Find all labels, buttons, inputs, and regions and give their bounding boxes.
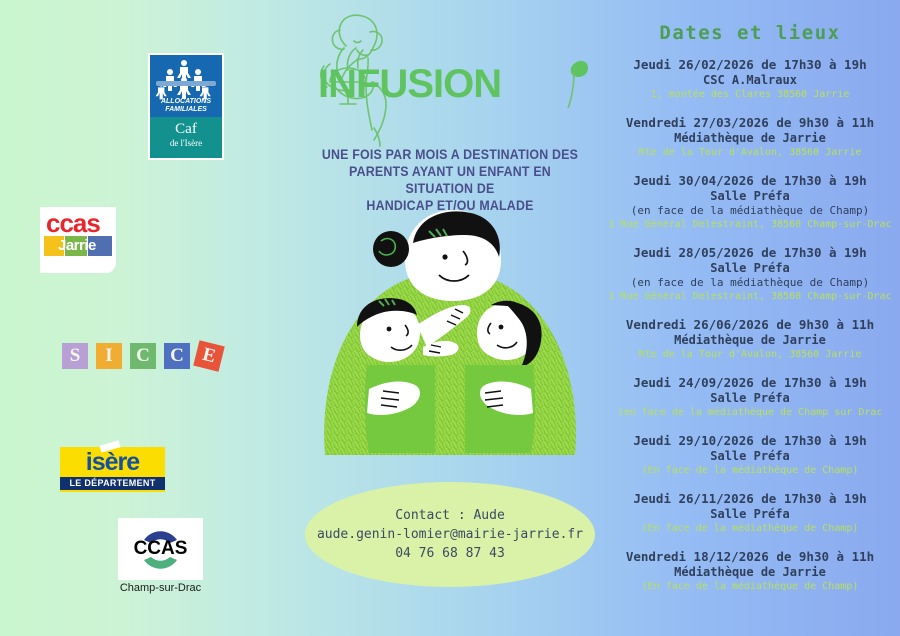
schedule-event: Jeudi 29/10/2026 de 17h30 à 19h Salle Pr… — [600, 433, 900, 478]
tagline: UNE FOIS PAR MOIS A DESTINATION DES PARE… — [316, 146, 585, 214]
family-hug-illustration — [305, 205, 595, 480]
sicce-letter-3: C — [130, 343, 156, 369]
schedule-event: Vendredi 26/06/2026 de 9h30 à 11h Médiat… — [600, 317, 900, 362]
logo-caf: ALLOCATIONSFAMILIALES Caf de l'Isère — [148, 53, 224, 160]
event-date: Vendredi 27/03/2026 de 9h30 à 11h — [600, 115, 900, 131]
event-date: Jeudi 29/10/2026 de 17h30 à 19h — [600, 433, 900, 449]
event-date: Jeudi 26/02/2026 de 17h30 à 19h — [600, 57, 900, 73]
sicce-letter-4: C — [164, 343, 190, 369]
event-address: (en face de la médiathèque de Champ sur … — [600, 406, 900, 420]
event-date: Jeudi 26/11/2026 de 17h30 à 19h — [600, 491, 900, 507]
ccas-champ-box: CCAS — [118, 518, 203, 580]
event-place: CSC A.Malraux — [600, 73, 900, 88]
ccas-jarrie-color-blocks: Jarrie — [44, 236, 112, 258]
event-date: Jeudi 28/05/2026 de 17h30 à 19h — [600, 245, 900, 261]
schedule-column: Dates et lieux Jeudi 26/02/2026 de 17h30… — [600, 0, 900, 636]
isere-word: isère — [60, 447, 165, 477]
contact-phone[interactable]: 04 76 68 87 43 — [395, 544, 505, 563]
event-address: 1 Rue Général Delestraint, 38560 Champ-s… — [600, 290, 900, 304]
contact-email[interactable]: aude.genin-lomier@mairie-jarrie.fr — [317, 525, 583, 544]
event-place: Médiathèque de Jarrie — [600, 131, 900, 146]
infusion-wordmark: INFUSION — [318, 62, 501, 107]
ccas-jarrie-word: ccas — [40, 207, 116, 235]
schedule-event: Jeudi 26/11/2026 de 17h30 à 19h Salle Pr… — [600, 491, 900, 536]
center-column: INFUSION UNE FOIS PAR MOIS A DESTINATION… — [300, 0, 600, 636]
caf-top-panel: ALLOCATIONSFAMILIALES — [150, 55, 222, 117]
schedule-title: Dates et lieux — [600, 22, 900, 44]
event-place: Salle Préfa — [600, 391, 900, 406]
event-address: 1, montée des Clares 38560 Jarrie — [600, 88, 900, 102]
contact-block: Contact : Aude aude.genin-lomier@mairie-… — [305, 482, 595, 587]
logo-sicce: S I C C E — [62, 338, 222, 378]
event-address: 1 Rue Général Delestraint, 38560 Champ-s… — [600, 218, 900, 232]
event-place: Salle Préfa — [600, 189, 900, 204]
event-date: Vendredi 18/12/2026 de 9h30 à 11h — [600, 549, 900, 565]
event-date: Vendredi 26/06/2026 de 9h30 à 11h — [600, 317, 900, 333]
schedule-event: Jeudi 28/05/2026 de 17h30 à 19h Salle Pr… — [600, 245, 900, 304]
event-date: Jeudi 30/04/2026 de 17h30 à 19h — [600, 173, 900, 189]
schedule-event: Jeudi 26/02/2026 de 17h30 à 19h CSC A.Ma… — [600, 57, 900, 102]
caf-bar — [156, 81, 216, 86]
logo-isere: isère LE DÉPARTEMENT — [60, 447, 165, 492]
event-address: Rte de la Tour d'Avalon, 38560 Jarrie — [600, 146, 900, 160]
ccas-champ-city: Champ-sur-Drac — [118, 582, 203, 594]
ccas-champ-word: CCAS — [118, 538, 203, 560]
caf-bottom-panel: Caf de l'Isère — [150, 117, 222, 158]
caf-subtitle: de l'Isère — [150, 138, 222, 148]
event-place: Médiathèque de Jarrie — [600, 565, 900, 580]
event-place: Salle Préfa — [600, 507, 900, 522]
event-note: (en face de la médiathèque de Champ) — [600, 204, 900, 218]
event-note: (en face de la médiathèque de Champ) — [600, 276, 900, 290]
event-place: Salle Préfa — [600, 449, 900, 464]
event-address: (En face de la médiathèque de Champ) — [600, 522, 900, 536]
contact-name: Contact : Aude — [395, 506, 505, 525]
logo-ccas-jarrie: ccas Jarrie — [40, 207, 116, 273]
isere-subtitle: LE DÉPARTEMENT — [60, 477, 165, 490]
schedule-event: Vendredi 27/03/2026 de 9h30 à 11h Médiat… — [600, 115, 900, 160]
event-place: Médiathèque de Jarrie — [600, 333, 900, 348]
sicce-letter-2: I — [96, 343, 122, 369]
schedule-event: Jeudi 30/04/2026 de 17h30 à 19h Salle Pr… — [600, 173, 900, 232]
event-address: (En face de la médiathèque de Champ) — [600, 580, 900, 594]
schedule-event: Vendredi 18/12/2026 de 9h30 à 11h Médiat… — [600, 549, 900, 594]
schedule-event: Jeudi 24/09/2026 de 17h30 à 19h Salle Pr… — [600, 375, 900, 420]
sicce-letter-5: E — [193, 340, 225, 372]
event-date: Jeudi 24/09/2026 de 17h30 à 19h — [600, 375, 900, 391]
logo-ccas-champ-sur-drac: CCAS Champ-sur-Drac — [118, 518, 203, 600]
sicce-letter-1: S — [62, 343, 88, 369]
ccas-jarrie-city: Jarrie — [58, 237, 96, 254]
event-address: Rte de la Tour d'Avalon, 38560 Jarrie — [600, 348, 900, 362]
partner-logos-column: ALLOCATIONSFAMILIALES Caf de l'Isère cca… — [0, 0, 300, 636]
caf-allocations-text: ALLOCATIONSFAMILIALES — [150, 98, 222, 114]
caf-name: Caf — [150, 117, 222, 138]
leaf-sprout-icon — [560, 58, 590, 110]
event-place: Salle Préfa — [600, 261, 900, 276]
event-address: (En face de la médiathèque de Champ) — [600, 464, 900, 478]
caf-family-figures-icon — [150, 59, 222, 101]
